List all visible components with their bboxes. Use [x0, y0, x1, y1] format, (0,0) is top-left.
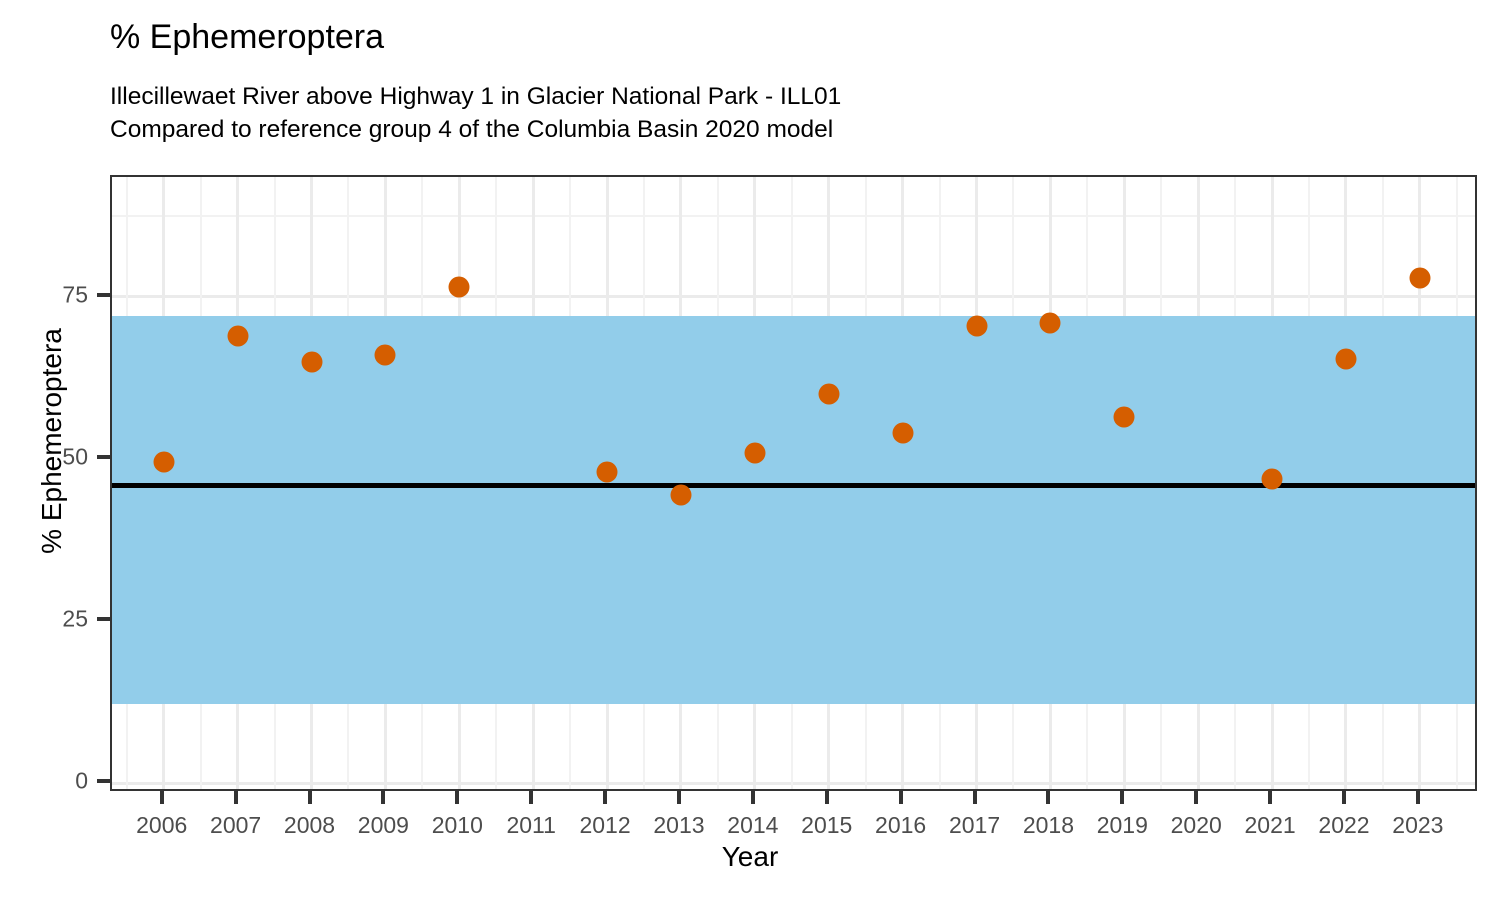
- y-tick-mark: [97, 455, 110, 459]
- x-tick-label: 2015: [801, 812, 852, 839]
- chart-subtitle: Illecillewaet River above Highway 1 in G…: [110, 80, 841, 146]
- data-point[interactable]: [153, 452, 174, 473]
- x-axis-title: Year: [0, 841, 1500, 873]
- x-tick-mark: [160, 791, 164, 804]
- x-tick-mark: [603, 791, 607, 804]
- x-tick-mark: [751, 791, 755, 804]
- x-tick-mark: [1046, 791, 1050, 804]
- data-point[interactable]: [1409, 267, 1430, 288]
- reference-band: [112, 316, 1475, 703]
- data-point[interactable]: [670, 484, 691, 505]
- x-tick-label: 2011: [506, 812, 555, 839]
- x-tick-mark: [1416, 791, 1420, 804]
- x-tick-mark: [899, 791, 903, 804]
- x-tick-label: 2013: [653, 812, 704, 839]
- y-tick-label: 25: [0, 606, 88, 633]
- data-point[interactable]: [1114, 406, 1135, 427]
- x-tick-label: 2008: [284, 812, 335, 839]
- data-point[interactable]: [1262, 468, 1283, 489]
- data-point[interactable]: [744, 442, 765, 463]
- x-tick-mark: [1342, 791, 1346, 804]
- x-tick-mark: [1120, 791, 1124, 804]
- x-tick-label: 2014: [727, 812, 778, 839]
- x-tick-mark: [529, 791, 533, 804]
- data-point[interactable]: [227, 325, 248, 346]
- data-point[interactable]: [597, 462, 618, 483]
- x-tick-mark: [381, 791, 385, 804]
- x-tick-mark: [973, 791, 977, 804]
- chart-title: % Ephemeroptera: [110, 18, 384, 57]
- data-point[interactable]: [818, 384, 839, 405]
- data-point[interactable]: [966, 316, 987, 337]
- x-tick-label: 2007: [210, 812, 261, 839]
- y-tick-mark: [97, 293, 110, 297]
- x-tick-label: 2020: [1171, 812, 1222, 839]
- y-tick-label: 0: [0, 768, 88, 795]
- x-tick-label: 2022: [1318, 812, 1369, 839]
- y-tick-label: 50: [0, 444, 88, 471]
- y-tick-mark: [97, 617, 110, 621]
- y-axis-title: % Ephemeroptera: [36, 133, 68, 749]
- x-tick-label: 2017: [949, 812, 1000, 839]
- data-point[interactable]: [1335, 348, 1356, 369]
- plot-panel: [110, 175, 1477, 791]
- x-tick-label: 2019: [1097, 812, 1148, 839]
- x-tick-mark: [825, 791, 829, 804]
- x-tick-mark: [1194, 791, 1198, 804]
- x-tick-mark: [1268, 791, 1272, 804]
- x-tick-label: 2016: [875, 812, 926, 839]
- x-tick-label: 2006: [136, 812, 187, 839]
- x-tick-label: 2018: [1023, 812, 1074, 839]
- data-point[interactable]: [449, 277, 470, 298]
- x-tick-mark: [234, 791, 238, 804]
- data-point[interactable]: [1040, 312, 1061, 333]
- x-tick-mark: [677, 791, 681, 804]
- x-tick-label: 2021: [1245, 812, 1296, 839]
- data-point[interactable]: [892, 423, 913, 444]
- data-point[interactable]: [301, 351, 322, 372]
- x-tick-label: 2023: [1392, 812, 1443, 839]
- x-tick-mark: [308, 791, 312, 804]
- x-tick-label: 2012: [579, 812, 630, 839]
- y-tick-mark: [97, 779, 110, 783]
- x-tick-label: 2009: [358, 812, 409, 839]
- data-point[interactable]: [375, 345, 396, 366]
- y-tick-label: 75: [0, 281, 88, 308]
- x-tick-mark: [455, 791, 459, 804]
- x-tick-label: 2010: [432, 812, 483, 839]
